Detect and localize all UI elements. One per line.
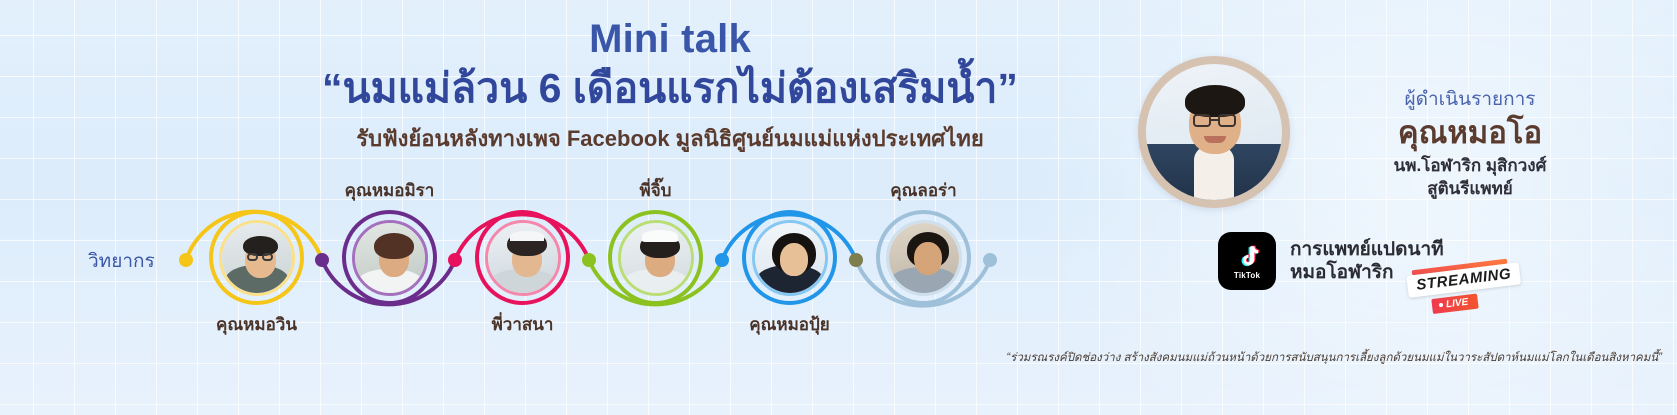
speaker-photo-3 xyxy=(488,223,558,293)
speaker-name-1: คุณหมอวิน xyxy=(147,311,367,338)
speaker-photo-5 xyxy=(755,223,825,293)
headline-line1: Mini talk xyxy=(230,16,1110,63)
headline-block: Mini talk “นมแม่ล้วน 6 เดือนแรกไม่ต้องเส… xyxy=(230,16,1110,154)
speaker-node-2[interactable]: คุณหมอมิรา xyxy=(342,210,437,305)
speaker-node-3[interactable]: พี่วาสนา xyxy=(475,210,570,305)
host-nickname: คุณหมอโอ xyxy=(1300,113,1640,153)
headline-line2: “นมแม่ล้วน 6 เดือนแรกไม่ต้องเสริมน้ำ” xyxy=(230,63,1110,113)
host-role: ผู้ดำเนินรายการ xyxy=(1300,88,1640,112)
speaker-photo-1 xyxy=(222,223,292,293)
speaker-name-4: พี่จิ๊บ xyxy=(546,177,766,204)
tiktok-icon[interactable]: TikTok xyxy=(1218,232,1276,290)
host-info: ผู้ดำเนินรายการ คุณหมอโอ นพ.โอฬาริก มุสิ… xyxy=(1300,88,1640,201)
live-badge: LIVE xyxy=(1431,293,1479,314)
speaker-node-1[interactable]: คุณหมอวิน xyxy=(209,210,304,305)
banner-root: Mini talk “นมแม่ล้วน 6 เดือนแรกไม่ต้องเส… xyxy=(0,0,1677,415)
tiktok-logo-label: TikTok xyxy=(1234,271,1260,280)
host-fullname: นพ.โอฬาริก มุสิกวงศ์ xyxy=(1300,155,1640,178)
speaker-photo-2 xyxy=(355,223,425,293)
tiktok-channel-line1: การแพทย์แปดนาที xyxy=(1290,238,1444,261)
speaker-timeline: คุณหมอวิน คุณหมอมิรา xyxy=(0,178,1060,348)
tiktok-note-glyph xyxy=(1234,243,1261,270)
speaker-name-3: พี่วาสนา xyxy=(413,311,633,338)
live-badge-text: LIVE xyxy=(1445,296,1468,310)
host-photo-inner xyxy=(1146,64,1282,200)
speaker-node-6[interactable]: คุณลอร่า xyxy=(876,210,971,305)
speaker-photo-4 xyxy=(621,223,691,293)
speaker-name-2: คุณหมอมิรา xyxy=(280,177,500,204)
host-avatar xyxy=(1138,56,1290,208)
speaker-node-5[interactable]: คุณหมอปุ้ย xyxy=(742,210,837,305)
speaker-name-6: คุณลอร่า xyxy=(814,177,1034,204)
host-specialty: สูตินรีแพทย์ xyxy=(1300,178,1640,201)
speakers-section-label: วิทยากร xyxy=(88,246,155,276)
speaker-node-4[interactable]: พี่จิ๊บ xyxy=(608,210,703,305)
speaker-name-5: คุณหมอปุ้ย xyxy=(680,311,900,338)
footer-caption: “ร่วมรณรงค์ปิดช่องว่าง สร้างสังคมนมแม่ถ้… xyxy=(842,351,1662,366)
headline-subtitle: รับฟังย้อนหลังทางเพจ Facebook มูลนิธิศูน… xyxy=(230,125,1110,154)
speaker-photo-6 xyxy=(889,223,959,293)
live-dot-icon xyxy=(1439,303,1443,307)
